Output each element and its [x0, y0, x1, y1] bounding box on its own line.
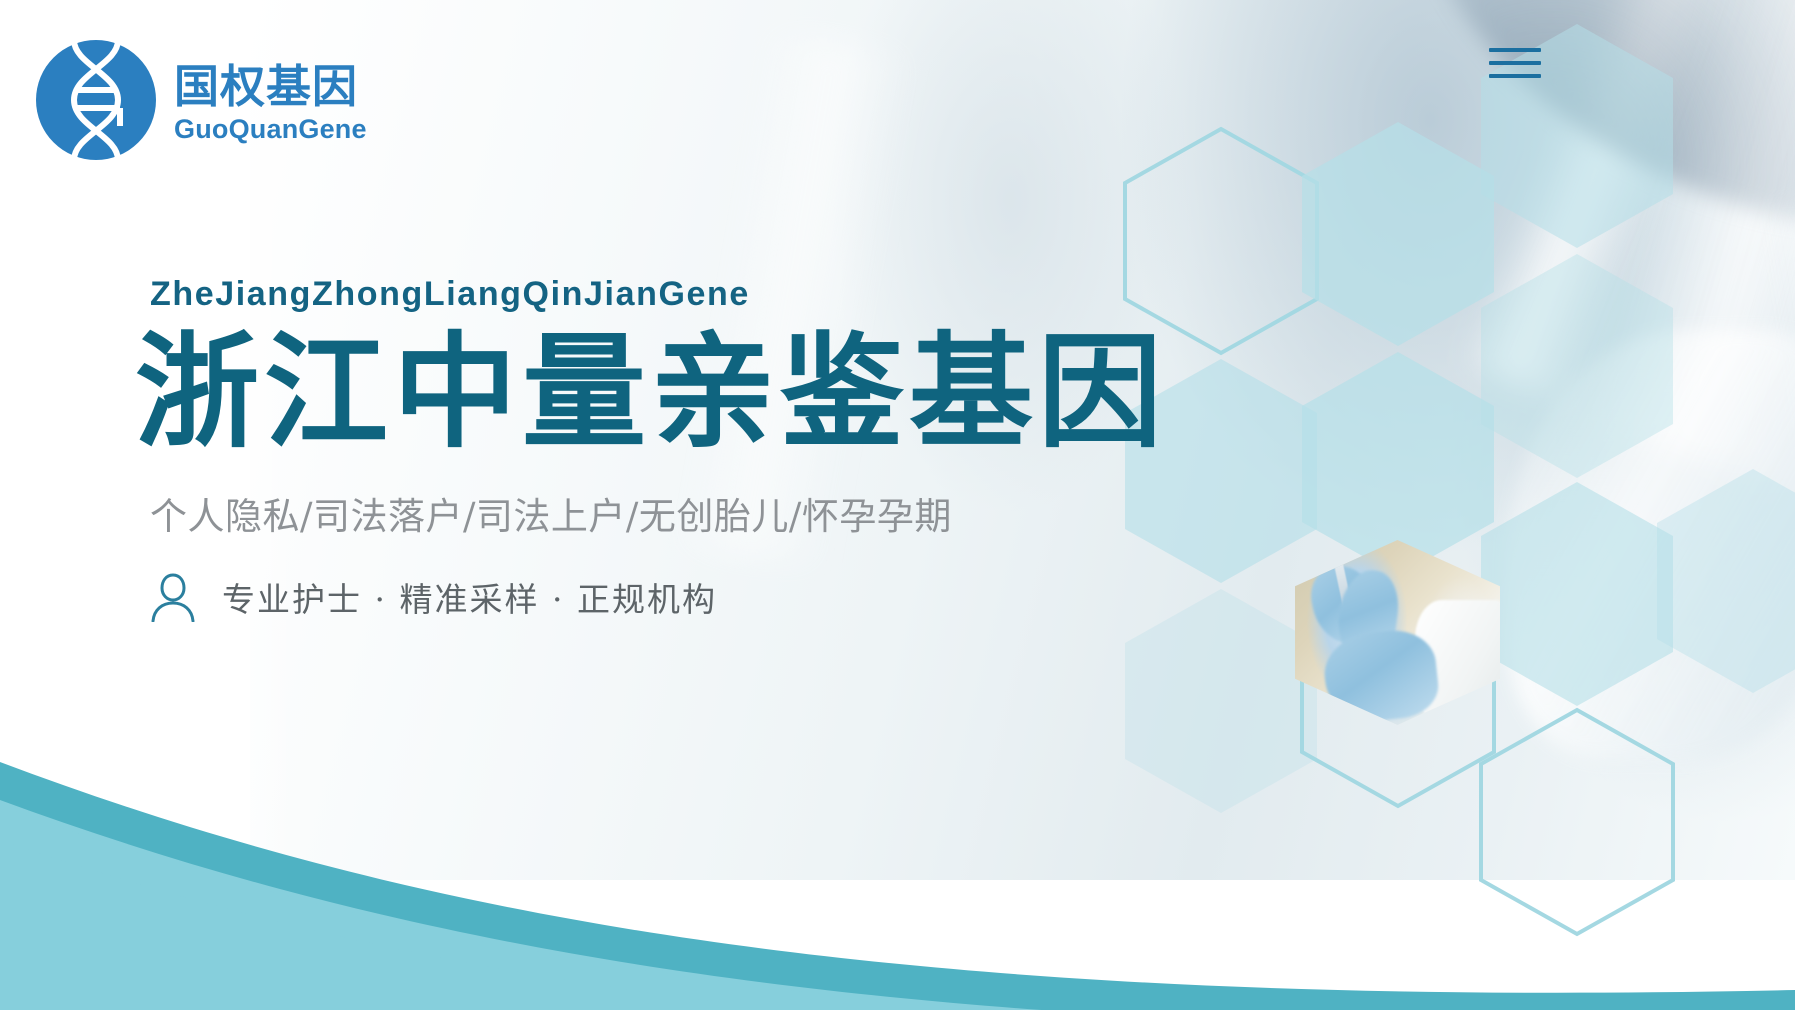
hamburger-bar: [1489, 74, 1541, 78]
hero-services-list: 个人隐私/司法落户/司法上户/无创胎儿/怀孕孕期: [150, 486, 1167, 540]
hexagon-filled: [1474, 250, 1680, 482]
hexagon-filled: [1295, 118, 1501, 350]
hamburger-bar: [1489, 48, 1541, 52]
hero-copy: ZheJiangZhongLiangQinJianGene 浙江中量亲鉴基因 个…: [150, 275, 1167, 622]
hero-banner: 国权基因 GuoQuanGene ZheJiangZhongLiangQinJi…: [0, 0, 1795, 1010]
brand-name-en: GuoQuanGene: [174, 116, 367, 143]
hamburger-menu-icon[interactable]: [1489, 48, 1541, 80]
hero-headline: 浙江中量亲鉴基因: [135, 320, 1167, 466]
bottom-wave-decoration: [0, 590, 1795, 1010]
hamburger-bar: [1489, 61, 1541, 65]
hero-assurance-row: 专业护士 · 精准采样 · 正规机构: [150, 572, 1167, 622]
brand-logo[interactable]: 国权基因 GuoQuanGene: [34, 38, 367, 162]
dna-helix-icon: [34, 38, 158, 162]
hero-assurance-text: 专业护士 · 精准采样 · 正规机构: [222, 573, 717, 621]
brand-text: 国权基因 GuoQuanGene: [174, 58, 367, 143]
person-outline-icon: [150, 572, 196, 622]
brand-name-cn: 国权基因: [174, 64, 367, 109]
hero-pinyin: ZheJiangZhongLiangQinJianGene: [150, 275, 1167, 314]
